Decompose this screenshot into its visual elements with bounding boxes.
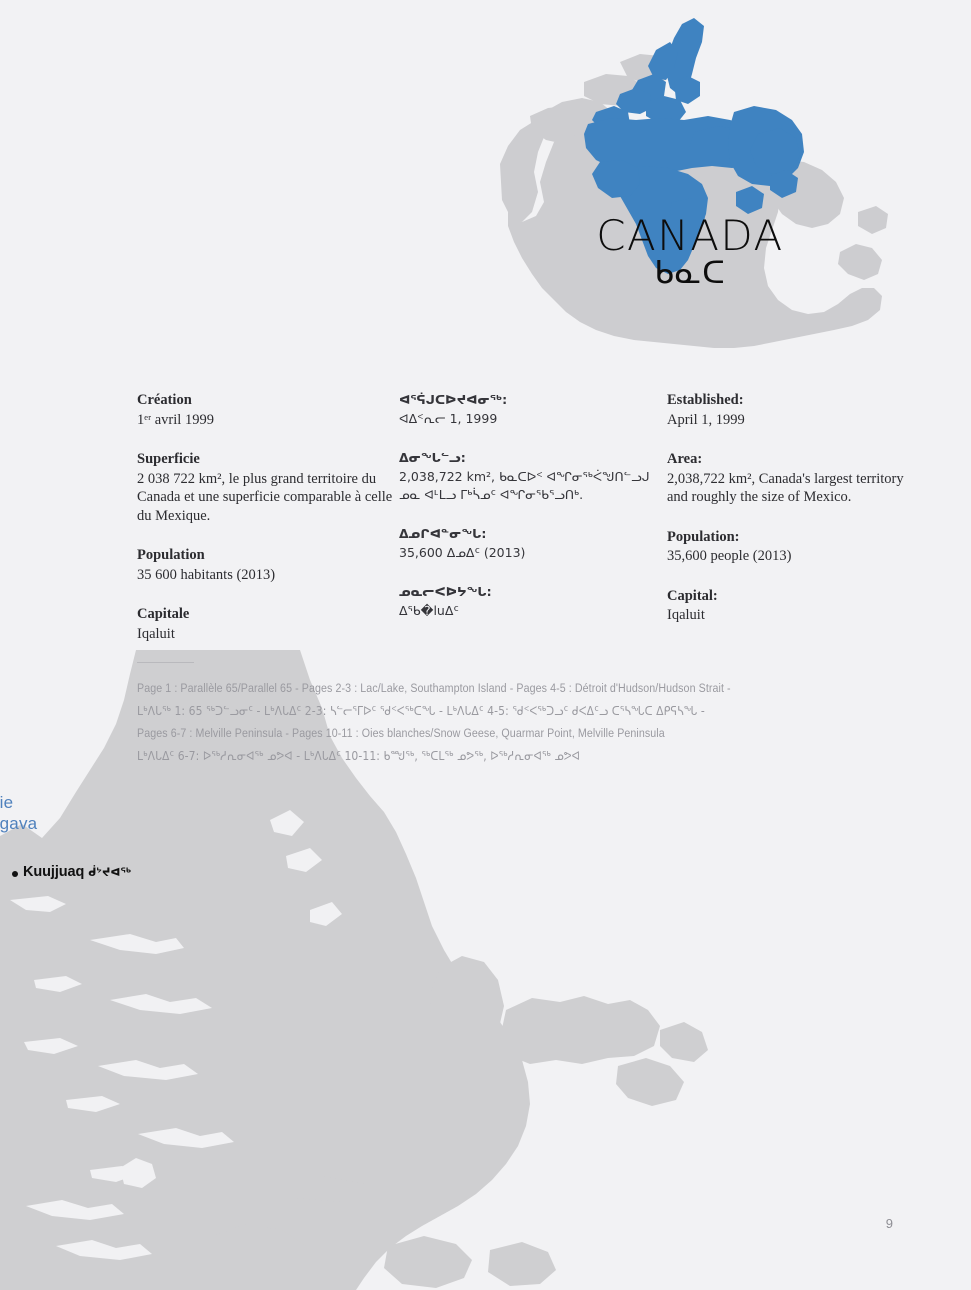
page-canvas: aie ngava Kuujjuaq ᑰᔾᔪᐊᖅ: [0, 0, 971, 1272]
fact-term: Population: [137, 546, 399, 565]
fact-definition: Iqaluit: [137, 625, 399, 644]
fact-term: Area:: [667, 450, 907, 469]
caption-line-2: ᒪᒃᐱᒐᖅ 1: 65 ᖅᑐᓪᓗᓂᑦ - ᒪᒃᐱᒐᐃᑦ 2-3: ᓴᓪᓕᕐᒥᐅᑦ…: [137, 700, 848, 723]
wordmark-syllabics: ᑲᓇᑕ: [488, 256, 892, 290]
fact-definition: 2,038,722 km², ᑲᓇᑕᐅᑉ ᐊᖏᓂᖅᐹᖑᑎᓪᓗᒍ ᓄᓇ ᐊᒻᒪᓗ …: [399, 468, 667, 504]
page-number: 9: [886, 1216, 893, 1231]
fact-creation-fr: Création 1ᵉʳ avril 1999: [137, 391, 399, 429]
fact-capital-en: Capital: Iqaluit: [667, 587, 907, 625]
bay-label-line-1: aie: [0, 792, 37, 813]
fact-population-iu: ᐃᓄᒋᐊᓐᓂᖓ: 35,600 ᐃᓄᐃᑦ (2013): [399, 525, 667, 562]
fact-population-en: Population: 35,600 people (2013): [667, 528, 907, 566]
fact-term: ᐃᓄᒋᐊᓐᓂᖓ:: [399, 525, 667, 543]
fact-definition: 1ᵉʳ avril 1999: [137, 411, 399, 430]
place-marker-kuujjuaq: Kuujjuaq ᑰᔾᔪᐊᖅ: [12, 864, 131, 881]
fact-definition: April 1, 1999: [667, 411, 907, 430]
fact-area-iu: ᐃᓂᖓᓪᓗ: 2,038,722 km², ᑲᓇᑕᐅᑉ ᐊᖏᓂᖅᐹᖑᑎᓪᓗᒍ ᓄ…: [399, 449, 667, 504]
fact-term: ᐊᕐᕌᒍᑕᐅᔪᐊᓂᖅ:: [399, 391, 667, 409]
fact-definition: 35,600 ᐃᓄᐃᑦ (2013): [399, 544, 667, 562]
fact-area-en: Area: 2,038,722 km², Canada's largest te…: [667, 450, 907, 507]
fact-column-english: Established: April 1, 1999 Area: 2,038,7…: [667, 391, 907, 643]
fact-term: Superficie: [137, 450, 399, 469]
caption-divider: [137, 662, 194, 663]
canada-inset-map: CANADA ᑲᓇᑕ: [488, 16, 892, 362]
wordmark-latin: CANADA: [488, 214, 892, 258]
fact-population-fr: Population 35 600 habitants (2013): [137, 546, 399, 584]
fact-definition: Iqaluit: [667, 606, 907, 625]
fact-definition: 2,038,722 km², Canada's largest territor…: [667, 470, 907, 507]
fact-capital-fr: Capitale Iqaluit: [137, 605, 399, 643]
caption-line-1: Page 1 : Parallèle 65/Parallel 65 - Page…: [137, 677, 816, 700]
fact-term: Capitale: [137, 605, 399, 624]
caption-line-4: ᒪᒃᐱᒐᐃᑦ 6-7: ᐅᖅᓱᕆᓂᐊᖅ ᓄᕗᐊ - ᒪᒃᐱᒐᐃᑦ 10-11: …: [137, 745, 848, 768]
fact-column-french: Création 1ᵉʳ avril 1999 Superficie 2 038…: [137, 391, 399, 643]
fact-term: Population:: [667, 528, 907, 547]
fact-columns: Création 1ᵉʳ avril 1999 Superficie 2 038…: [137, 391, 937, 643]
place-label-syllabics: ᑰᔾᔪᐊᖅ: [88, 866, 131, 879]
canada-wordmark: CANADA ᑲᓇᑕ: [488, 214, 892, 290]
caption-line-3: Pages 6-7 : Melville Peninsula - Pages 1…: [137, 722, 816, 745]
fact-term: ᓄᓇᓕᐸᐅᔭᖓ:: [399, 583, 667, 601]
fact-established-en: Established: April 1, 1999: [667, 391, 907, 429]
photo-caption-index: Page 1 : Parallèle 65/Parallel 65 - Page…: [137, 662, 927, 767]
fact-definition: 35 600 habitants (2013): [137, 566, 399, 585]
fact-term: ᐃᓂᖓᓪᓗ:: [399, 449, 667, 467]
fact-term: Established:: [667, 391, 907, 410]
fact-definition: ᐊᐃᑉᕆᓕ 1, 1999: [399, 410, 667, 428]
fact-capital-iu: ᓄᓇᓕᐸᐅᔭᖓ: ᐃᖃ�luᐃᑦ: [399, 583, 667, 620]
fact-column-inuktitut: ᐊᕐᕌᒍᑕᐅᔪᐊᓂᖅ: ᐊᐃᑉᕆᓕ 1, 1999 ᐃᓂᖓᓪᓗ: 2,038,7…: [399, 391, 667, 643]
fact-definition: 2 038 722 km², le plus grand territoire …: [137, 470, 399, 526]
bay-label-line-2: ngava: [0, 813, 37, 834]
bay-label-ungava: aie ngava: [0, 792, 37, 834]
fact-creation-iu: ᐊᕐᕌᒍᑕᐅᔪᐊᓂᖅ: ᐊᐃᑉᕆᓕ 1, 1999: [399, 391, 667, 428]
fact-term: Capital:: [667, 587, 907, 606]
place-label-latin: Kuujjuaq: [23, 864, 84, 880]
map-dot-icon: [12, 871, 18, 877]
fact-area-fr: Superficie 2 038 722 km², le plus grand …: [137, 450, 399, 525]
fact-definition: 35,600 people (2013): [667, 547, 907, 566]
fact-term: Création: [137, 391, 399, 410]
fact-definition: ᐃᖃ�luᐃᑦ: [399, 602, 667, 620]
